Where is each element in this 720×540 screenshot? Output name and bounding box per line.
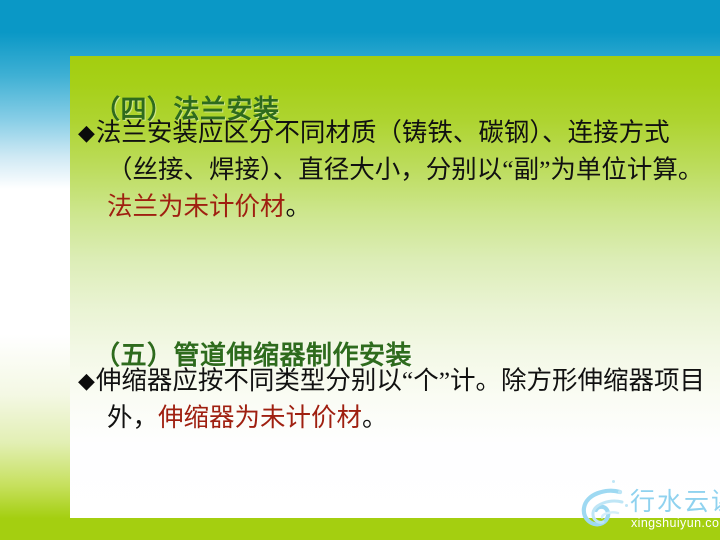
diamond-bullet-icon: ◆ bbox=[78, 368, 96, 393]
sparkle-dot-icon bbox=[618, 490, 622, 494]
slide-body: （四）法兰安装 ◆法兰安装应区分不同材质（铸铁、碳钢）、连接方式（丝接、焊接）、… bbox=[70, 56, 720, 518]
bullet-paragraph-expansion-joint: ◆伸缩器应按不同类型分别以“个”计。除方形伸缩器项目外，伸缩器为未计价材。 bbox=[78, 362, 716, 436]
bullet-text-flange-emphasis: 法兰为未计价材 bbox=[107, 192, 286, 221]
sparkle-dot-icon bbox=[625, 504, 628, 507]
content-panel: （四）法兰安装 ◆法兰安装应区分不同材质（铸铁、碳钢）、连接方式（丝接、焊接）、… bbox=[70, 56, 720, 518]
watermark-logo: 行水云课 xingshuiyun.com bbox=[576, 474, 716, 538]
bullet-text-expansion-emphasis: 伸缩器为未计价材 bbox=[158, 403, 362, 432]
bullet-text-flange-part1: 法兰安装应区分不同材质（铸铁、碳钢）、连接方式（丝接、焊接）、直径大小，分别以“… bbox=[96, 118, 703, 184]
bullet-text-flange-part3: 。 bbox=[286, 192, 312, 221]
slide-canvas: （四）法兰安装 ◆法兰安装应区分不同材质（铸铁、碳钢）、连接方式（丝接、焊接）、… bbox=[0, 0, 720, 540]
watermark-url-text: xingshuiyun.com bbox=[631, 516, 720, 530]
sparkle-dot-icon bbox=[612, 480, 615, 483]
diamond-bullet-icon: ◆ bbox=[78, 120, 96, 145]
bullet-paragraph-flange: ◆法兰安装应区分不同材质（铸铁、碳钢）、连接方式（丝接、焊接）、直径大小，分别以… bbox=[78, 114, 716, 225]
watermark-brand-text: 行水云课 bbox=[630, 488, 720, 516]
bullet-text-expansion-part3: 。 bbox=[362, 403, 388, 432]
